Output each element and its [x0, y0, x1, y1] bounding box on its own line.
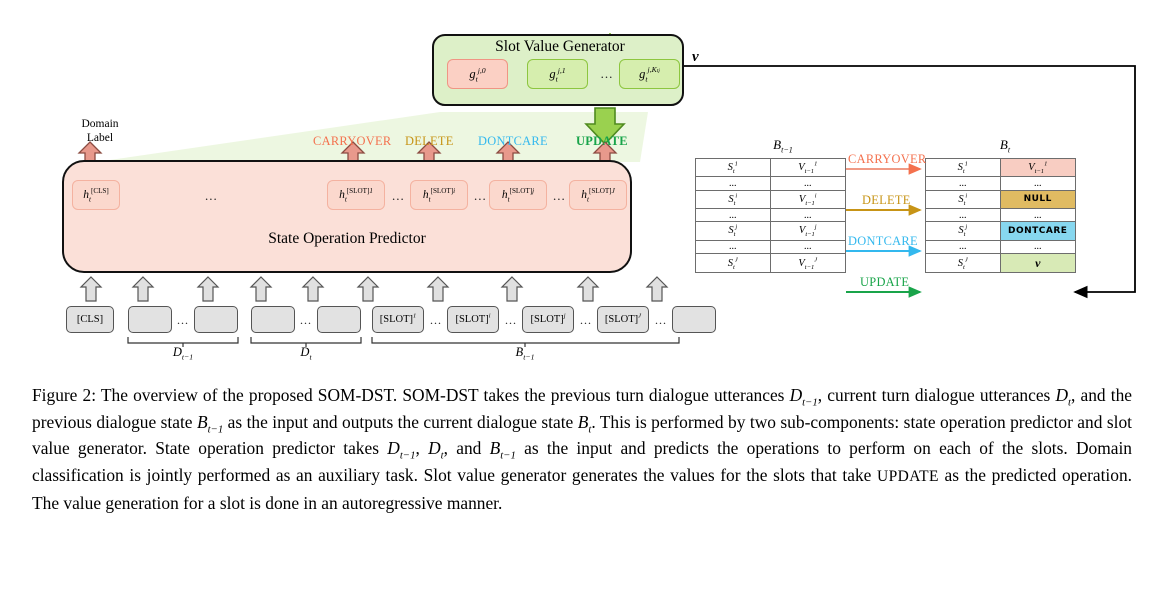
cell-value-null: NULL	[1024, 194, 1052, 204]
token-ellipsis-3: ...	[430, 313, 442, 328]
generator-ellipsis: ...	[594, 66, 620, 82]
operation-arrows	[846, 169, 920, 292]
token-ellipsis-1: ...	[177, 313, 189, 328]
token-cls: [CLS]	[66, 306, 114, 333]
figure-diagram: Slot Value Generator gtj,0 gtj,1 ... gtj…	[0, 0, 1165, 375]
table-row: Sti NULL	[926, 191, 1075, 209]
generator-step-k: gtj,Ktj	[619, 59, 680, 89]
state-operation-predictor-title: State Operation Predictor	[62, 230, 632, 248]
token-slot-J: [SLOT]J	[597, 306, 649, 333]
token-ellipsis-5: ...	[580, 313, 592, 328]
bracket-label-bt-prev: Bt−1	[495, 345, 555, 360]
hidden-state-slot-i: ht[SLOT]i	[410, 180, 468, 210]
token-dt-a	[251, 306, 295, 333]
arrow-label-delete: DELETE	[862, 193, 911, 208]
domain-label-line2: Label	[87, 132, 113, 144]
table-row: St1 Vt−11	[926, 159, 1075, 177]
predictor-input-arrows	[81, 277, 667, 301]
arrow-label-dontcare: DONTCARE	[848, 234, 918, 249]
domain-label: Domain Label	[70, 118, 130, 145]
table-prev: St1 Vt−11 ... ... Sti Vt−1i ... ... Stj …	[695, 158, 846, 273]
table-next: St1 Vt−11 ... ... Sti NULL ... ... Stj D…	[925, 158, 1076, 273]
token-slot-j: [SLOT]j	[522, 306, 574, 333]
table-row: ... ...	[696, 209, 845, 223]
hidden-state-slot-J: ht[SLOT]J	[569, 180, 627, 210]
table-row: Sti Vt−1i	[696, 191, 845, 209]
generator-step-1: gtj,1	[527, 59, 588, 89]
cell-value-v: v	[1035, 256, 1040, 271]
table-row: StJ v	[926, 254, 1075, 272]
slot-value-generator-title: Slot Value Generator	[462, 38, 658, 56]
op-label-update: UPDATE	[576, 134, 628, 149]
hidden-states-ellipsis-4: ...	[553, 188, 566, 204]
generator-step-0: gtj,0	[447, 59, 508, 89]
domain-label-line1: Domain	[81, 118, 118, 130]
table-prev-caption: Bt−1	[718, 137, 848, 153]
token-dt1-a	[128, 306, 172, 333]
token-dt1-b	[194, 306, 238, 333]
table-next-caption: Bt	[940, 137, 1070, 153]
hidden-states-ellipsis-2: ...	[392, 188, 405, 204]
state-operation-predictor-panel	[62, 160, 632, 273]
hidden-states-ellipsis-3: ...	[474, 188, 487, 204]
token-ellipsis-2: ...	[300, 313, 312, 328]
table-row: ... ...	[696, 177, 845, 191]
hidden-state-cls: ht[CLS]	[72, 180, 120, 210]
table-row: ... ...	[926, 177, 1075, 191]
arrow-label-update: UPDATE	[860, 275, 909, 290]
bracket-label-dt: Dt	[276, 345, 336, 360]
op-label-dontcare: DONTCARE	[478, 134, 548, 149]
arrow-label-carryover: CARRYOVER	[848, 152, 926, 167]
figure-caption: Figure 2: The overview of the proposed S…	[32, 382, 1132, 517]
cell-value-dontcare: DONTCARE	[1008, 226, 1067, 236]
table-row: ... ...	[696, 241, 845, 255]
table-row: StJ Vt−1J	[696, 254, 845, 272]
token-trailing	[672, 306, 716, 333]
table-row: St1 Vt−11	[696, 159, 845, 177]
table-row: ... ...	[926, 209, 1075, 223]
table-row: Stj Vt−1j	[696, 222, 845, 240]
token-ellipsis-6: ...	[655, 313, 667, 328]
token-ellipsis-4: ...	[505, 313, 517, 328]
token-dt-b	[317, 306, 361, 333]
hidden-state-slot-1: ht[SLOT]1	[327, 180, 385, 210]
bracket-label-dt-prev: Dt−1	[153, 345, 213, 360]
hidden-states-ellipsis-1: ...	[205, 188, 218, 204]
token-slot-1: [SLOT]1	[372, 306, 424, 333]
generator-output-label: v	[692, 49, 699, 66]
table-row: Stj DONTCARE	[926, 222, 1075, 240]
op-label-delete: DELETE	[405, 134, 454, 149]
token-slot-i: [SLOT]i	[447, 306, 499, 333]
op-label-carryover: CARRYOVER	[313, 134, 391, 149]
hidden-state-slot-j: ht[SLOT]j	[489, 180, 547, 210]
table-row: ... ...	[926, 241, 1075, 255]
